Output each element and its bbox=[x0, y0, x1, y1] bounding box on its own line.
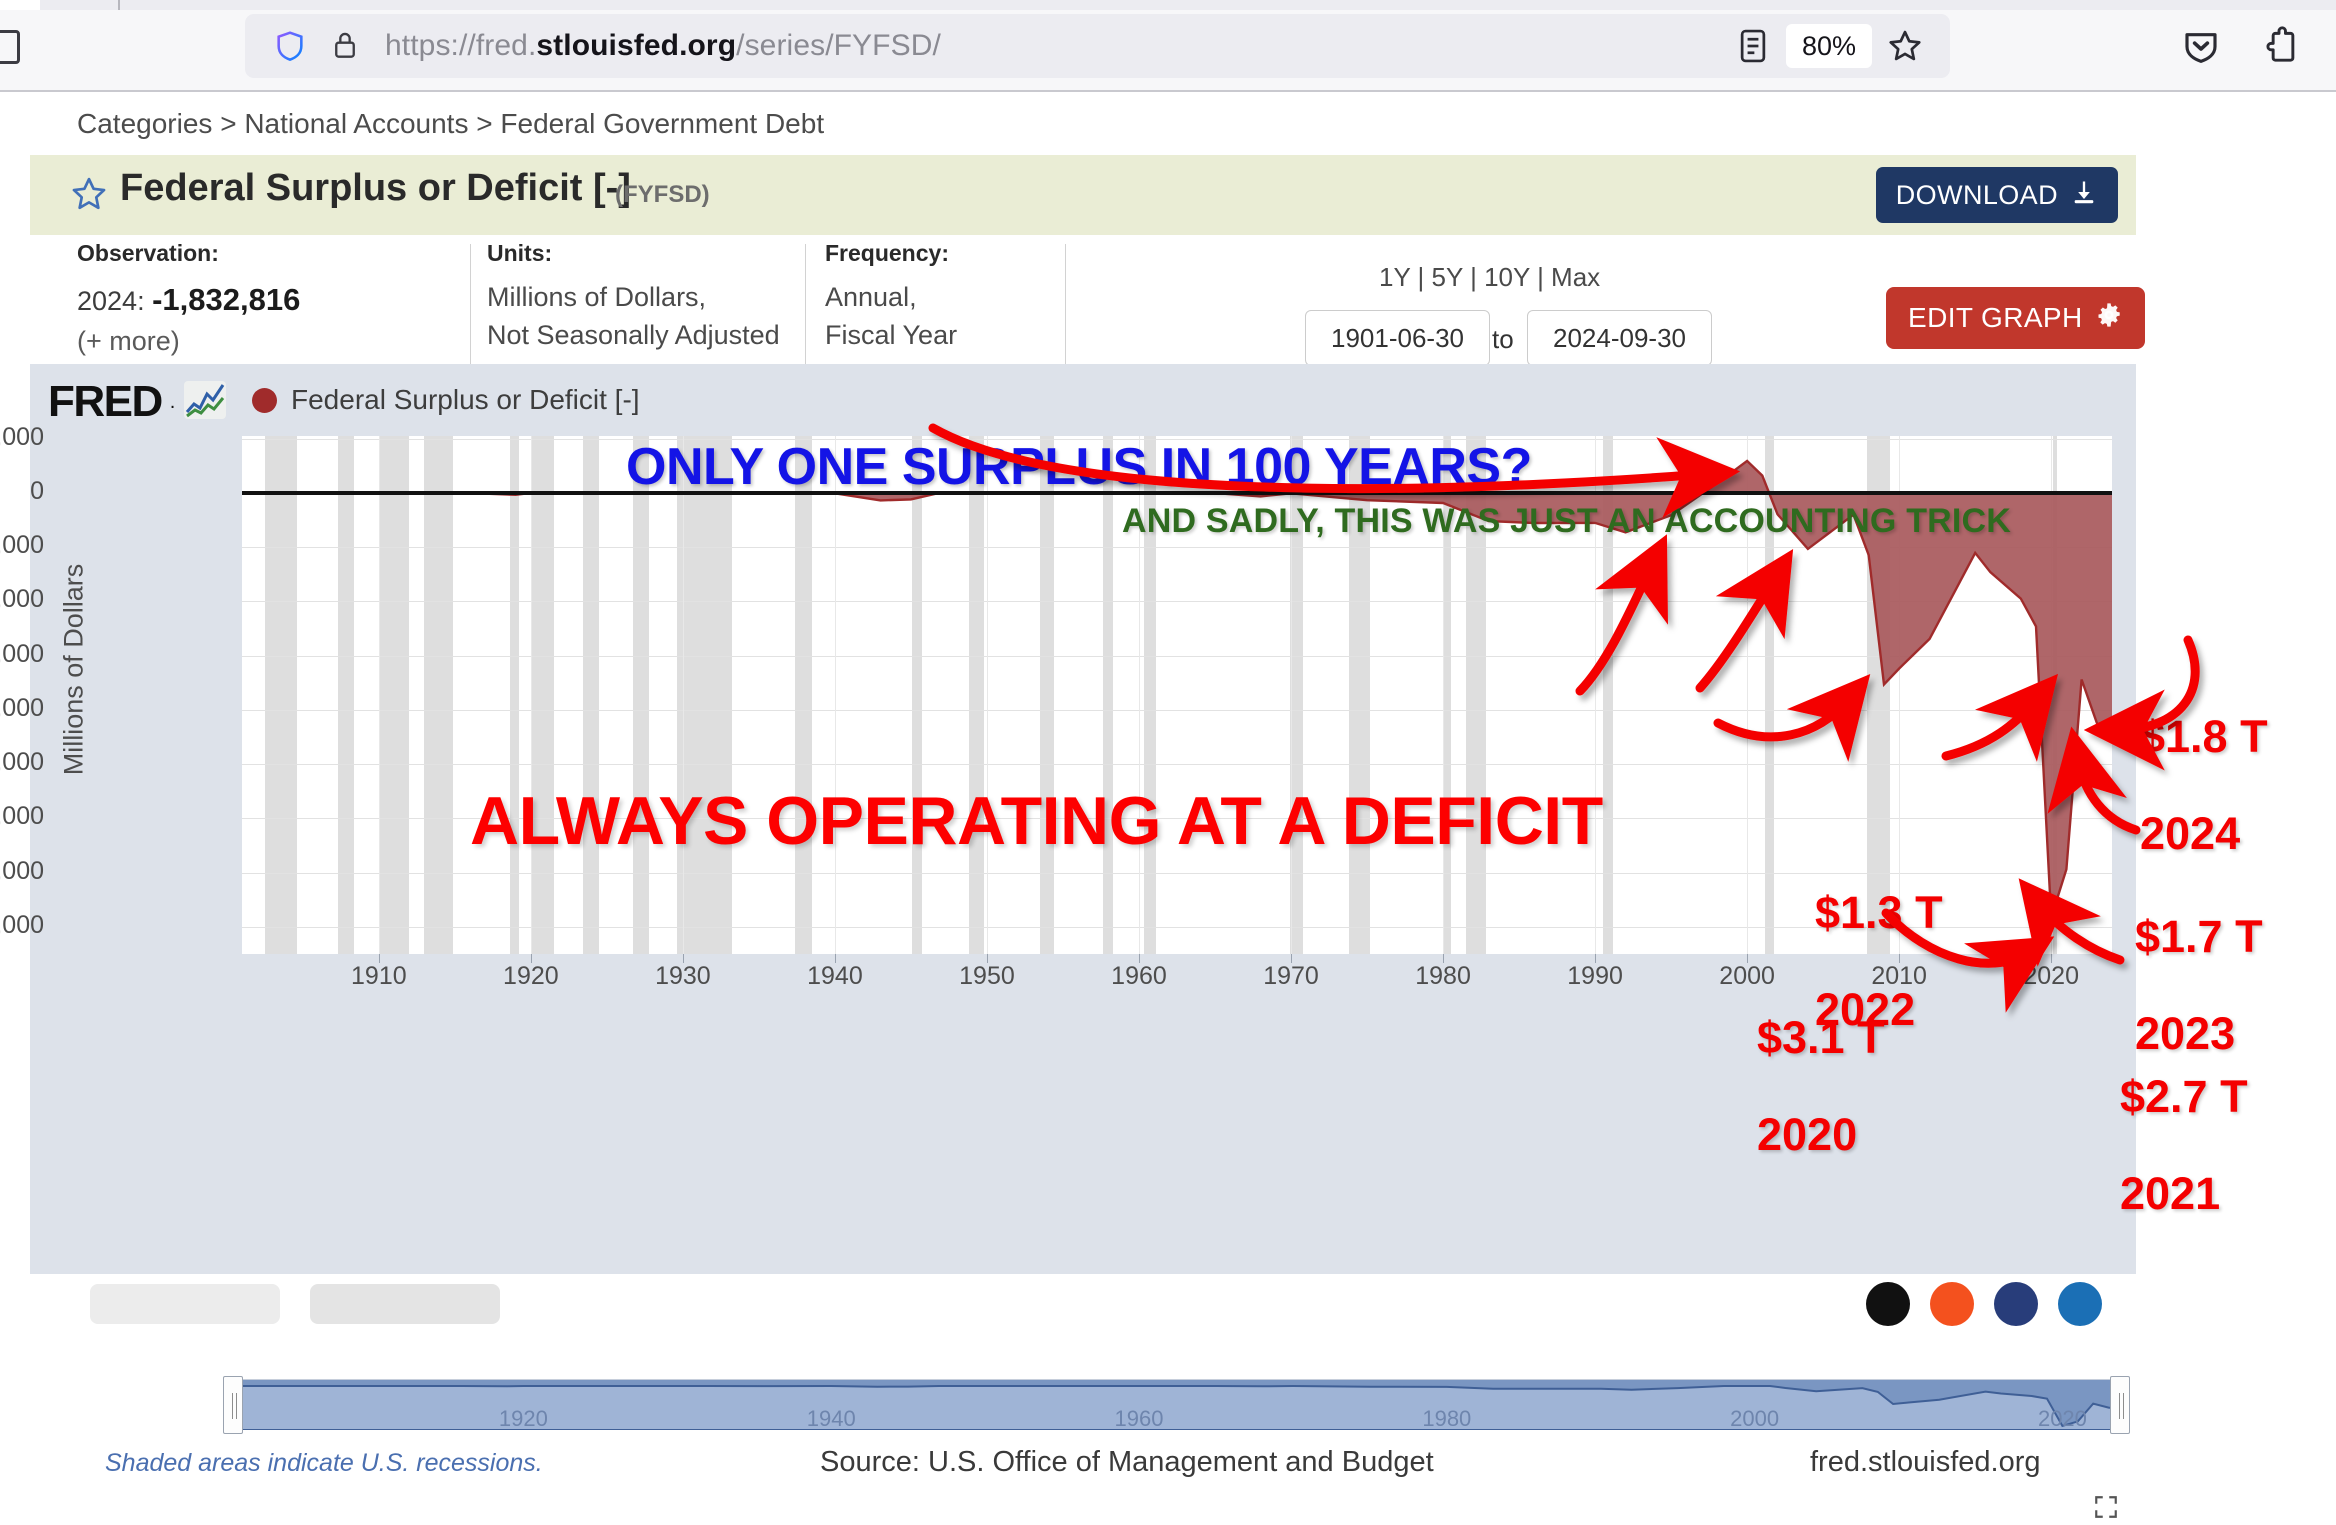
x-axis-tick-mark bbox=[1139, 954, 1140, 963]
x-axis-tick-label: 1970 bbox=[1221, 962, 1361, 991]
chart-legend: Federal Surplus or Deficit [-] bbox=[252, 384, 640, 416]
browser-toolbar: https://fred.stlouisfed.org/series/FYFSD… bbox=[0, 0, 2336, 92]
x-axis-tick-mark bbox=[531, 954, 532, 963]
callout-2020-year: 2020 bbox=[1757, 1111, 1885, 1160]
social-icon-reddit[interactable] bbox=[1930, 1282, 1974, 1326]
x-axis-tick-mark bbox=[1291, 954, 1292, 963]
bottom-button-left[interactable] bbox=[90, 1284, 280, 1324]
x-axis-tick-label: 1980 bbox=[1373, 962, 1513, 991]
x-axis-tick-label: 1950 bbox=[917, 962, 1057, 991]
page-title: Federal Surplus or Deficit [-] bbox=[120, 167, 631, 210]
x-axis-tick-mark bbox=[987, 954, 988, 963]
callout-2020: $3.1 T 2020 bbox=[1757, 965, 1885, 1208]
browser-extra-actions bbox=[2174, 14, 2310, 78]
fullscreen-expand-icon[interactable] bbox=[2093, 1494, 2119, 1520]
star-bookmark-icon[interactable] bbox=[1878, 19, 1932, 73]
observation-heading: Observation: bbox=[77, 240, 477, 267]
x-axis-tick-mark bbox=[683, 954, 684, 963]
frequency-column: Frequency: Annual, Fiscal Year bbox=[825, 240, 1085, 355]
x-axis-tick-label: 1990 bbox=[1525, 962, 1665, 991]
edit-graph-button[interactable]: EDIT GRAPH bbox=[1886, 287, 2145, 349]
social-icon-facebook[interactable] bbox=[1994, 1282, 2038, 1326]
url-text: https://fred.stlouisfed.org/series/FYFSD… bbox=[385, 29, 941, 63]
tab-divider bbox=[118, 0, 120, 10]
download-arrow-icon bbox=[2070, 178, 2098, 213]
x-axis-tick-label: 1910 bbox=[309, 962, 449, 991]
y-axis-tick-label: -1,600,000 bbox=[0, 694, 44, 723]
legend-color-dot bbox=[252, 388, 277, 413]
lock-icon[interactable] bbox=[331, 29, 361, 63]
edit-graph-label: EDIT GRAPH bbox=[1908, 302, 2083, 334]
x-axis-tick-label: 1940 bbox=[765, 962, 905, 991]
url-bar[interactable]: https://fred.stlouisfed.org/series/FYFSD… bbox=[245, 14, 1950, 78]
url-bar-actions: 80% bbox=[1726, 14, 1950, 78]
y-axis-tick-label: 400,000 bbox=[0, 423, 44, 452]
breadcrumb: Categories > National Accounts > Federal… bbox=[77, 108, 824, 140]
series-title-bar: Federal Surplus or Deficit [-] (FYFSD) D… bbox=[30, 155, 2136, 235]
navigator-tick-label: 2000 bbox=[1695, 1406, 1815, 1432]
meta-divider bbox=[470, 244, 471, 366]
browser-tab[interactable] bbox=[0, 0, 40, 10]
series-metadata: Observation: 2024: -1,832,816 (+ more) U… bbox=[0, 240, 2136, 372]
observation-more-link[interactable]: (+ more) bbox=[77, 322, 477, 360]
x-axis-tick-label: 1960 bbox=[1069, 962, 1209, 991]
download-button[interactable]: DOWNLOAD bbox=[1876, 167, 2118, 223]
observation-year: 2024: bbox=[77, 286, 145, 316]
site-note: fred.stlouisfed.org bbox=[1810, 1446, 2041, 1479]
y-axis-tick-label: -800,000 bbox=[0, 585, 44, 614]
chart-range-navigator[interactable]: 192019401960198020002020 bbox=[230, 1379, 2123, 1429]
units-heading: Units: bbox=[487, 240, 807, 267]
breadcrumb-item-national-accounts[interactable]: National Accounts bbox=[244, 108, 468, 139]
zoom-level-badge[interactable]: 80% bbox=[1786, 24, 1872, 68]
y-axis-tick-label: -3,200,000 bbox=[0, 911, 44, 940]
observation-number: -1,832,816 bbox=[152, 282, 300, 317]
navigator-selected-range[interactable]: 192019401960198020002020 bbox=[231, 1380, 2122, 1428]
social-icon-tiktok[interactable] bbox=[1866, 1282, 1910, 1326]
fred-wordmark: FRED bbox=[48, 377, 162, 427]
breadcrumb-item-categories[interactable]: Categories bbox=[77, 108, 212, 139]
shield-icon[interactable] bbox=[273, 29, 307, 63]
callout-2021: $2.7 T 2021 bbox=[2120, 1024, 2248, 1267]
social-icon-linkedin[interactable] bbox=[2058, 1282, 2102, 1326]
zero-baseline bbox=[242, 491, 2112, 495]
y-axis-tick-label: -400,000 bbox=[0, 531, 44, 560]
units-column: Units: Millions of Dollars, Not Seasonal… bbox=[487, 240, 807, 355]
recession-note[interactable]: Shaded areas indicate U.S. recessions. bbox=[105, 1449, 543, 1478]
callout-2021-amount: $2.7 T bbox=[2120, 1073, 2248, 1122]
source-note: Source: U.S. Office of Management and Bu… bbox=[820, 1446, 1434, 1479]
pocket-save-icon[interactable] bbox=[2174, 19, 2228, 73]
observation-value: 2024: -1,832,816 bbox=[77, 278, 477, 322]
gear-icon bbox=[2095, 301, 2123, 336]
navigator-tick-label: 1940 bbox=[771, 1406, 891, 1432]
frequency-line-1: Annual, bbox=[825, 278, 1085, 316]
url-subdomain: fred. bbox=[476, 29, 537, 62]
download-button-label: DOWNLOAD bbox=[1896, 180, 2058, 211]
units-line-2: Not Seasonally Adjusted bbox=[487, 316, 807, 354]
breadcrumb-separator: > bbox=[476, 108, 492, 139]
fred-logo: FRED . bbox=[48, 377, 227, 427]
x-axis-tick-mark bbox=[1747, 954, 1748, 963]
y-axis-label: Millions of Dollars bbox=[59, 500, 90, 840]
navigator-tick-label: 1980 bbox=[1387, 1406, 1507, 1432]
callout-2024-amount: $1.8 T bbox=[2140, 713, 2268, 762]
callout-2023-amount: $1.7 T bbox=[2135, 913, 2263, 962]
reader-view-icon[interactable] bbox=[1726, 19, 1780, 73]
url-scheme: https:// bbox=[385, 29, 476, 62]
page-content: Categories > National Accounts > Federal… bbox=[0, 92, 2336, 1204]
extensions-puzzle-icon[interactable] bbox=[2256, 19, 2310, 73]
x-axis-tick-mark bbox=[379, 954, 380, 963]
bottom-button-right[interactable] bbox=[310, 1284, 500, 1324]
meta-divider bbox=[805, 244, 806, 366]
date-to-label: to bbox=[1492, 324, 1514, 355]
date-from-input[interactable]: 1901-06-30 bbox=[1305, 310, 1490, 366]
x-axis-tick-mark bbox=[1443, 954, 1444, 963]
browser-tabstrip-edge bbox=[0, 0, 2336, 10]
y-axis-tick-label: 0 bbox=[0, 477, 44, 506]
range-preset-links[interactable]: 1Y | 5Y | 10Y | Max bbox=[1379, 262, 1600, 293]
navigator-handle-left[interactable] bbox=[223, 1376, 243, 1434]
date-to-input[interactable]: 2024-09-30 bbox=[1527, 310, 1712, 366]
url-domain: stlouisfed.org bbox=[536, 29, 736, 62]
callout-2020-amount: $3.1 T bbox=[1757, 1014, 1885, 1063]
breadcrumb-separator: > bbox=[220, 108, 236, 139]
frequency-line-2: Fiscal Year bbox=[825, 316, 1085, 354]
callout-2021-year: 2021 bbox=[2120, 1170, 2248, 1219]
back-button[interactable] bbox=[0, 30, 20, 64]
url-path: /series/FYFSD/ bbox=[736, 29, 941, 62]
navigator-handle-right[interactable] bbox=[2110, 1376, 2130, 1434]
navigator-tick-label: 1920 bbox=[463, 1406, 583, 1432]
x-axis-tick-label: 1920 bbox=[461, 962, 601, 991]
y-axis-tick-label: -2,000,000 bbox=[0, 748, 44, 777]
x-axis-tick-label: 1930 bbox=[613, 962, 753, 991]
callout-2022-amount: $1.3 T bbox=[1815, 889, 1943, 938]
x-axis-tick-mark bbox=[2051, 954, 2052, 963]
breadcrumb-item-federal-government-debt[interactable]: Federal Government Debt bbox=[500, 108, 824, 139]
fred-chart-logo-icon bbox=[183, 380, 227, 425]
callout-2024-year: 2024 bbox=[2140, 810, 2268, 859]
x-axis-tick-label: 2020 bbox=[1981, 962, 2121, 991]
frequency-heading: Frequency: bbox=[825, 240, 1085, 267]
y-axis-tick-label: -1,200,000 bbox=[0, 640, 44, 669]
navigator-tick-label: 2020 bbox=[2002, 1406, 2122, 1432]
units-line-1: Millions of Dollars, bbox=[487, 278, 807, 316]
legend-label: Federal Surplus or Deficit [-] bbox=[291, 384, 640, 416]
navigator-tick-label: 1960 bbox=[1079, 1406, 1199, 1432]
y-axis-tick-label: -2,800,000 bbox=[0, 857, 44, 886]
x-axis-tick-mark bbox=[835, 954, 836, 963]
star-outline-icon[interactable] bbox=[70, 175, 108, 213]
y-axis-tick-label: -2,400,000 bbox=[0, 802, 44, 831]
meta-divider bbox=[1065, 244, 1066, 366]
series-id-label: (FYFSD) bbox=[615, 181, 710, 209]
x-axis-tick-mark bbox=[1595, 954, 1596, 963]
